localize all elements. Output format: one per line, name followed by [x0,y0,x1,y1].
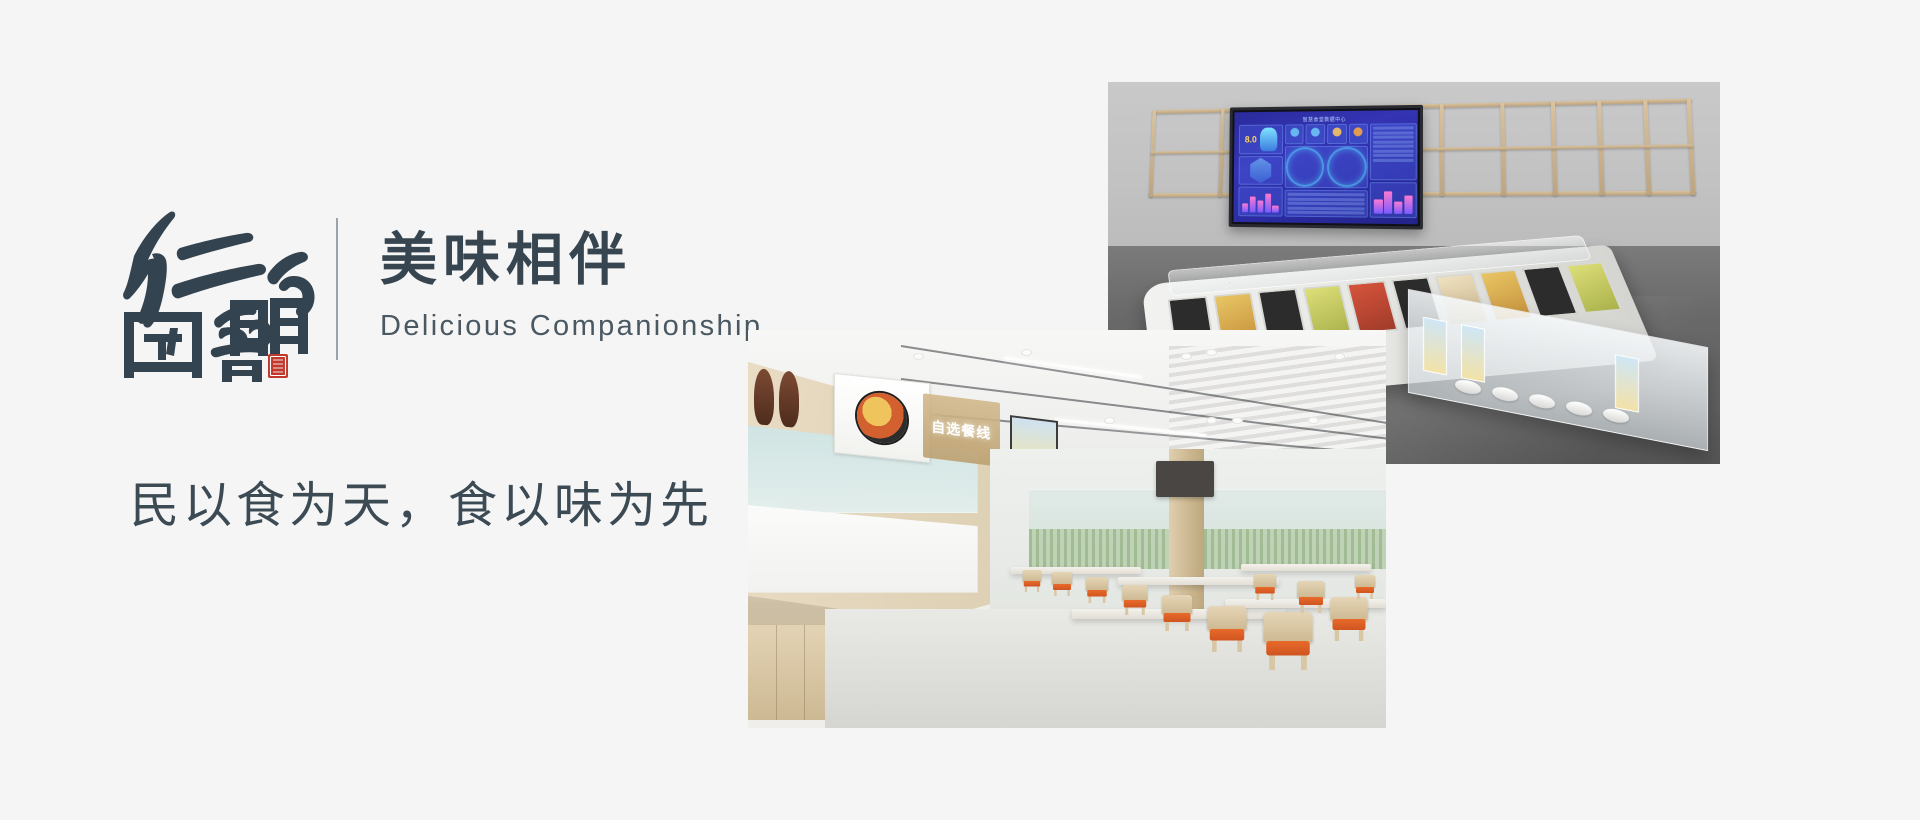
headline-cn: 美味相伴 [380,230,762,292]
render-dashboard-kpi: 8.0 [1245,134,1257,144]
hall-furniture [1003,561,1386,720]
brand-wordmark: 美味相伴 Delicious Companionship [380,196,762,343]
tagline: 民以食为天，食以味为先 [130,466,713,537]
brand-divider [336,218,338,360]
brand-logo-label: 仁鹏团餐 [118,382,119,383]
image-cafeteria-hall: 自选餐线 食堂就餐区实景 [748,330,1386,728]
render-dashboard-screen: 智慧食堂数据中心 8.0 [1233,110,1417,224]
hero-banner: · 仁鹏团餐 美味相伴 Delicious Companionship 民以食为… [0,0,1920,820]
brand-row: · 仁鹏团餐 美味相伴 Delicious Companionship [118,196,762,382]
hall-signage-text: 自选餐线 [923,393,1000,466]
logo-seal [268,354,288,378]
hall-dish-photo [857,390,908,446]
brand-logo: · 仁鹏团餐 [118,196,318,382]
headline-en: Delicious Companionship [380,310,762,343]
hall-menu-lightbox [834,373,930,463]
render-dashboard-display: 智慧食堂数据中心 8.0 [1229,105,1423,230]
hall-wall-decor [754,368,799,428]
hall-column-screen [1156,461,1213,497]
render-avatar-icon [1260,127,1278,151]
